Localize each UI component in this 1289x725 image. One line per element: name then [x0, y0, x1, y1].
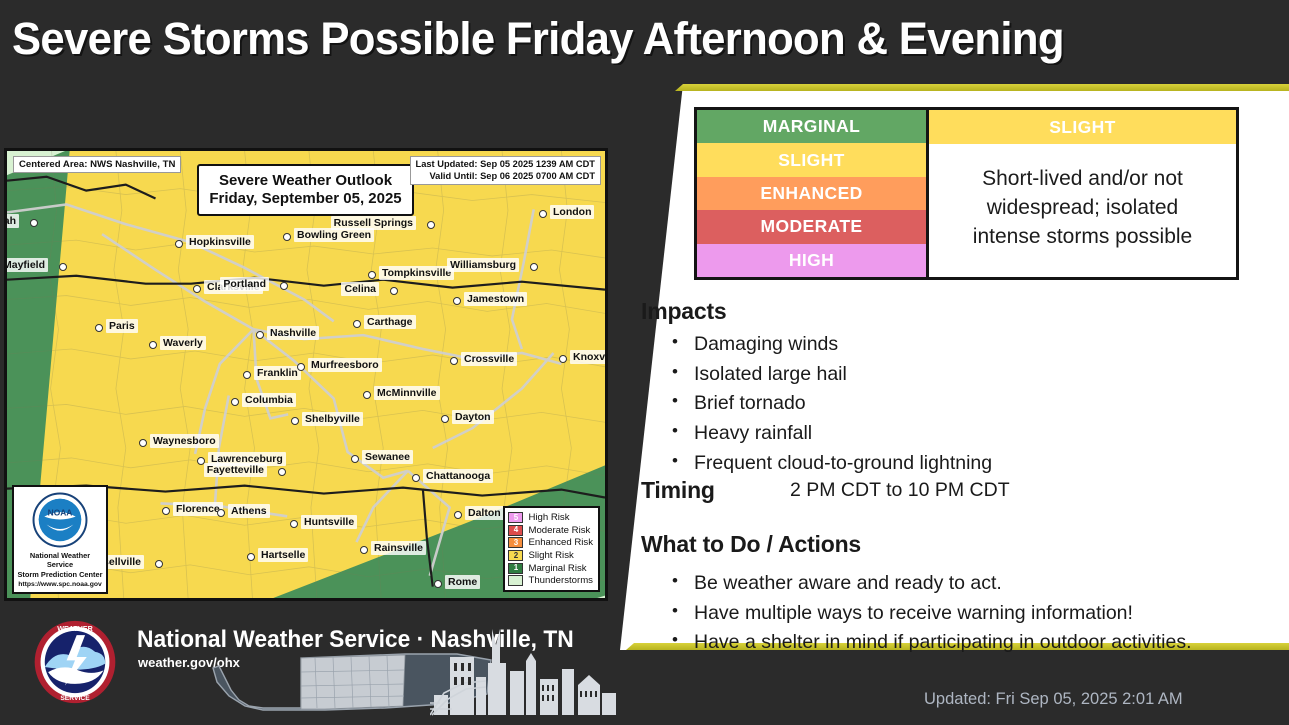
city-label: Nashville [267, 326, 319, 340]
noaa-logo-icon: NOAA [32, 492, 88, 548]
city-label: Mayfield [4, 258, 48, 272]
city-dot-icon [297, 363, 305, 371]
impacts-heading: Impacts [641, 298, 727, 325]
city-label: Chattanooga [423, 469, 493, 483]
risk-legend-table: MARGINAL SLIGHT ENHANCED MODERATE HIGH S… [694, 107, 1239, 280]
severe-weather-outlook-map[interactable]: PaducahMayfieldHopkinsvilleBowling Green… [4, 148, 608, 601]
city-label: Crossville [461, 352, 517, 366]
city-label: Hopkinsville [186, 235, 254, 249]
list-item: Brief tornado [668, 390, 992, 417]
city-dot-icon [360, 546, 368, 554]
city-dot-icon [453, 297, 461, 305]
city-dot-icon [368, 271, 376, 279]
legend-swatch [508, 575, 523, 586]
noaa-url: https://www.spc.noaa.gov [17, 581, 103, 588]
city-dot-icon [434, 580, 442, 588]
updated-timestamp: Updated: Fri Sep 05, 2025 2:01 AM [924, 690, 1183, 709]
city-dot-icon [193, 285, 201, 293]
city-label: Waynesboro [150, 434, 219, 448]
map-title-line2: Friday, September 05, 2025 [203, 190, 408, 208]
city-label: Williamsburg [447, 258, 519, 272]
panel-accent-stripe-top [620, 84, 1289, 91]
city-dot-icon [539, 210, 547, 218]
legend-row: 1Marginal Risk [508, 562, 593, 575]
legend-label: Marginal Risk [528, 563, 586, 574]
city-label: Paris [106, 319, 138, 333]
city-label: Tompkinsville [379, 266, 454, 280]
city-label: Athens [228, 504, 270, 518]
city-dot-icon [363, 391, 371, 399]
city-label: Paducah [4, 214, 19, 228]
risk-level-label: MODERATE [760, 216, 862, 237]
legend-swatch: 4 [508, 525, 523, 536]
legend-swatch: 3 [508, 537, 523, 548]
list-item: Have multiple ways to receive warning in… [668, 600, 1192, 627]
city-label: Columbia [242, 393, 296, 407]
city-dot-icon [231, 398, 239, 406]
city-dot-icon [278, 468, 286, 476]
legend-label: Slight Risk [528, 550, 573, 561]
svg-text:NOAA: NOAA [48, 507, 73, 517]
city-label: Florence [173, 502, 223, 516]
city-label: Dayton [452, 410, 494, 424]
legend-label: Enhanced Risk [528, 537, 593, 548]
city-dot-icon [427, 221, 435, 229]
city-label: London [550, 205, 594, 219]
risk-level-column: MARGINAL SLIGHT ENHANCED MODERATE HIGH [697, 110, 929, 277]
city-dot-icon [162, 507, 170, 515]
list-item: Heavy rainfall [668, 420, 992, 447]
city-dot-icon [155, 560, 163, 568]
city-dot-icon [30, 219, 38, 227]
city-label: Rome [445, 575, 480, 589]
risk-description-column: SLIGHT Short-lived and/or not widespread… [929, 110, 1236, 277]
city-label: Sewanee [362, 450, 413, 464]
svg-text:WEATHER: WEATHER [57, 625, 93, 633]
city-dot-icon [530, 263, 538, 271]
city-label: Rainsville [371, 541, 426, 555]
header-bar: Severe Storms Possible Friday Afternoon … [0, 0, 1289, 88]
risk-level-label: HIGH [789, 250, 834, 271]
legend-row: 3Enhanced Risk [508, 537, 593, 550]
city-dot-icon [454, 511, 462, 519]
legend-label: Moderate Risk [528, 525, 590, 536]
risk-level-label: ENHANCED [760, 183, 862, 204]
city-dot-icon [291, 417, 299, 425]
city-dot-icon [149, 341, 157, 349]
city-dot-icon [450, 357, 458, 365]
current-risk-header: SLIGHT [929, 110, 1236, 144]
city-dot-icon [175, 240, 183, 248]
city-label: Waverly [160, 336, 206, 350]
risk-level-marginal: MARGINAL [697, 110, 926, 143]
legend-swatch: 5 [508, 512, 523, 523]
legend-row: 4Moderate Risk [508, 524, 593, 537]
city-dot-icon [217, 509, 225, 517]
city-dot-icon [390, 287, 398, 295]
city-label: McMinnville [374, 386, 440, 400]
city-dot-icon [139, 439, 147, 447]
current-risk-description: Short-lived and/or not widespread; isola… [929, 144, 1236, 277]
list-item: Frequent cloud-to-ground lightning [668, 450, 992, 477]
city-dot-icon [243, 371, 251, 379]
city-dot-icon [559, 355, 567, 363]
city-dot-icon [247, 553, 255, 561]
map-last-updated: Last Updated: Sep 05 2025 1239 AM CDT [416, 159, 595, 171]
city-dot-icon [95, 324, 103, 332]
city-dot-icon [280, 282, 288, 290]
actions-heading: What to Do / Actions [641, 531, 861, 558]
city-dot-icon [353, 320, 361, 328]
list-item: Have a shelter in mind if participating … [668, 629, 1192, 656]
city-dot-icon [59, 263, 67, 271]
city-label: Jamestown [464, 292, 527, 306]
city-label: Celina [341, 282, 379, 296]
city-dot-icon [290, 520, 298, 528]
city-label: Huntsville [301, 515, 357, 529]
timing-heading: Timing [641, 477, 715, 504]
city-dot-icon [441, 415, 449, 423]
legend-row: 2Slight Risk [508, 549, 593, 562]
risk-level-slight: SLIGHT [697, 143, 926, 176]
city-label: Fayetteville [204, 463, 267, 477]
list-item: Be weather aware and ready to act. [668, 570, 1192, 597]
legend-swatch: 2 [508, 550, 523, 561]
city-label: Murfreesboro [308, 358, 382, 372]
page-title: Severe Storms Possible Friday Afternoon … [12, 13, 1064, 65]
legend-label: Thunderstorms [528, 575, 593, 586]
map-title-line1: Severe Weather Outlook [203, 172, 408, 190]
city-label: Hartselle [258, 548, 308, 562]
city-dot-icon [351, 455, 359, 463]
legend-row: 5High Risk [508, 511, 593, 524]
noaa-line1: National Weather Service [17, 551, 103, 571]
city-dot-icon [256, 331, 264, 339]
map-validity-box: Last Updated: Sep 05 2025 1239 AM CDT Va… [410, 156, 601, 185]
risk-level-label: SLIGHT [778, 150, 845, 171]
svg-text:SERVICE: SERVICE [60, 695, 90, 702]
risk-level-label: MARGINAL [763, 116, 861, 137]
legend-swatch: 1 [508, 563, 523, 574]
city-label: Shelbyville [302, 412, 363, 426]
map-centered-area-label: Centered Area: NWS Nashville, TN [13, 156, 181, 173]
nashville-skyline-icon [430, 623, 620, 721]
city-label: Portland [220, 277, 269, 291]
city-label: Knoxville [570, 350, 608, 364]
footer-bar: WEATHER SERVICE National Weather Service… [0, 601, 620, 725]
list-item: Damaging winds [668, 331, 992, 358]
city-dot-icon [283, 233, 291, 241]
city-dot-icon [412, 474, 420, 482]
actions-list: Be weather aware and ready to act. Have … [668, 570, 1192, 659]
legend-row: Thunderstorms [508, 574, 593, 587]
map-risk-legend: 5High Risk4Moderate Risk3Enhanced Risk2S… [503, 506, 600, 592]
risk-level-enhanced: ENHANCED [697, 177, 926, 210]
legend-label: High Risk [528, 512, 569, 523]
risk-level-moderate: MODERATE [697, 210, 926, 243]
noaa-spc-credit-box: NOAA National Weather Service Storm Pred… [12, 485, 108, 594]
impacts-list: Damaging winds Isolated large hail Brief… [668, 331, 992, 480]
city-label: Carthage [364, 315, 416, 329]
city-label: Bowling Green [294, 228, 374, 242]
map-title-box: Severe Weather Outlook Friday, September… [197, 164, 414, 216]
map-valid-until: Valid Until: Sep 06 2025 0700 AM CDT [416, 171, 595, 183]
city-label: Russell Springs [331, 216, 416, 230]
risk-level-high: HIGH [697, 244, 926, 277]
noaa-line2: Storm Prediction Center [17, 570, 103, 580]
timing-value: 2 PM CDT to 10 PM CDT [790, 479, 1010, 502]
nws-logo-icon: WEATHER SERVICE [33, 620, 117, 704]
city-label: Franklin [254, 366, 301, 380]
city-label: Dalton [465, 506, 504, 520]
list-item: Isolated large hail [668, 361, 992, 388]
